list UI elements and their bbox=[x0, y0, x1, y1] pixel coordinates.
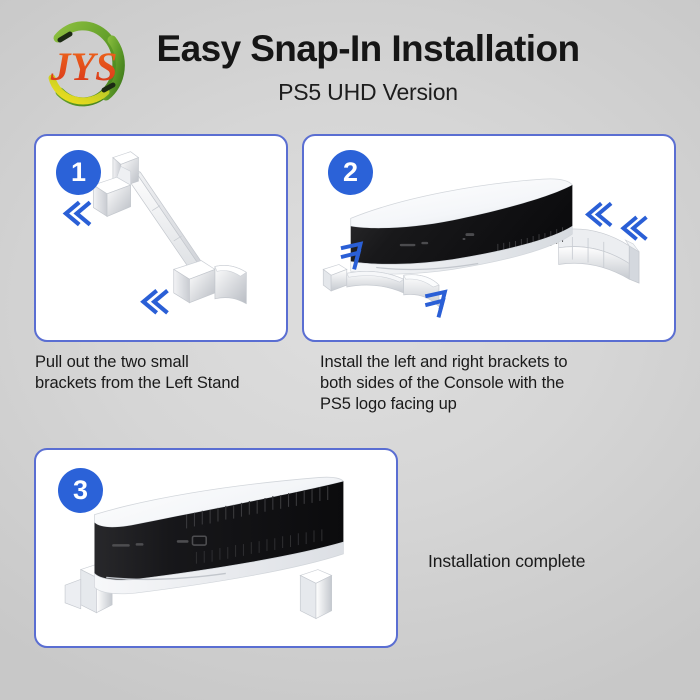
step-2-caption: Install the left and right brackets to b… bbox=[320, 352, 640, 415]
step-1-caption: Pull out the two small brackets from the… bbox=[35, 352, 297, 394]
jys-logo: JYS bbox=[34, 16, 138, 116]
step-panel-3: 3 bbox=[34, 448, 398, 648]
svg-text:JYS: JYS bbox=[50, 44, 118, 89]
arrow-chevron-right-b bbox=[623, 218, 645, 238]
installation-guide-page: JYS Easy Snap-In Installation PS5 UHD Ve… bbox=[0, 0, 700, 700]
step-panel-2: 2 bbox=[302, 134, 676, 342]
right-stand-foot bbox=[300, 570, 331, 619]
arrow-chevron-upper bbox=[66, 204, 89, 224]
right-bracket bbox=[559, 229, 639, 283]
step-3-caption: Installation complete bbox=[428, 551, 585, 572]
ps5-console bbox=[351, 179, 573, 274]
page-title: Easy Snap-In Installation bbox=[128, 27, 608, 71]
step-number-badge-1: 1 bbox=[56, 150, 101, 195]
arrow-chevron-left-b bbox=[427, 292, 445, 316]
arrow-chevron-right-a bbox=[588, 205, 610, 225]
arrow-chevron-lower bbox=[143, 292, 166, 312]
step-number-badge-2: 2 bbox=[328, 150, 373, 195]
page-subtitle: PS5 UHD Version bbox=[128, 78, 608, 106]
stand-foot-endcap bbox=[215, 265, 246, 303]
page-header: JYS Easy Snap-In Installation PS5 UHD Ve… bbox=[0, 0, 700, 122]
step-panel-1: 1 bbox=[34, 134, 288, 342]
small-bracket-lower bbox=[174, 261, 215, 303]
jys-logo-icon: JYS bbox=[34, 16, 138, 116]
step-number-badge-3: 3 bbox=[58, 468, 103, 513]
